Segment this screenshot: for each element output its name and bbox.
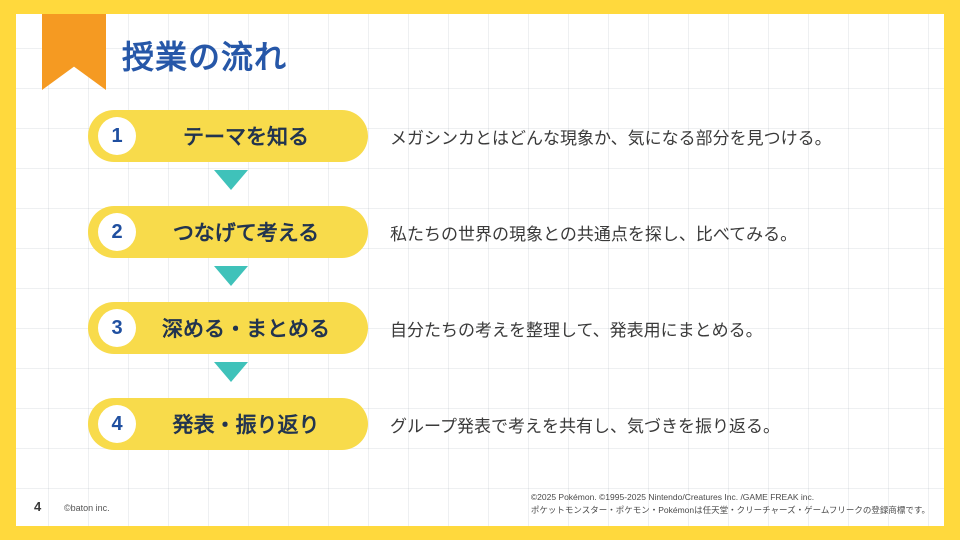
step-label-2: つなげて考える: [136, 217, 368, 247]
copyright-line-2: ポケットモンスター・ポケモン・Pokémonは任天堂・クリーチャーズ・ゲームフリ…: [531, 504, 930, 516]
ribbon-bookmark-icon: [42, 14, 106, 90]
page-title: 授業の流れ: [122, 32, 287, 78]
step-row: 2 つなげて考える 私たちの世界の現象との共通点を探し、比べてみる。: [16, 206, 944, 258]
step-pill-3[interactable]: 3 深める・まとめる: [88, 302, 368, 354]
step-row: 4 発表・振り返り グループ発表で考えを共有し、気づきを振り返る。: [16, 398, 944, 450]
step-label-1: テーマを知る: [136, 121, 368, 151]
step-row: 1 テーマを知る メガシンカとはどんな現象か、気になる部分を見つける。: [16, 110, 944, 162]
copyright-line-1: ©2025 Pokémon. ©1995-2025 Nintendo/Creat…: [531, 491, 930, 503]
step-label-3: 深める・まとめる: [136, 313, 368, 343]
chevron-down-icon: [214, 266, 248, 286]
footer-brand: ©baton inc.: [64, 503, 110, 513]
step-label-4: 発表・振り返り: [136, 409, 368, 439]
step-description-1: メガシンカとはどんな現象か、気になる部分を見つける。: [390, 124, 832, 149]
copyright-notice: ©2025 Pokémon. ©1995-2025 Nintendo/Creat…: [531, 491, 930, 516]
step-row: 3 深める・まとめる 自分たちの考えを整理して、発表用にまとめる。: [16, 302, 944, 354]
step-pill-4[interactable]: 4 発表・振り返り: [88, 398, 368, 450]
step-pill-2[interactable]: 2 つなげて考える: [88, 206, 368, 258]
slide: 授業の流れ 1 テーマを知る メガシンカとはどんな現象か、気になる部分を見つける…: [0, 0, 960, 540]
step-connector-1: [16, 162, 944, 206]
page-number: 4: [34, 499, 41, 514]
step-pill-1[interactable]: 1 テーマを知る: [88, 110, 368, 162]
step-description-4: グループ発表で考えを共有し、気づきを振り返る。: [390, 412, 780, 437]
step-number-4: 4: [98, 405, 136, 443]
step-number-3: 3: [98, 309, 136, 347]
step-number-2: 2: [98, 213, 136, 251]
step-connector-2: [16, 258, 944, 302]
step-connector-3: [16, 354, 944, 398]
step-description-3: 自分たちの考えを整理して、発表用にまとめる。: [390, 316, 763, 341]
chevron-down-icon: [214, 170, 248, 190]
step-flow-list: 1 テーマを知る メガシンカとはどんな現象か、気になる部分を見つける。 2 つな…: [16, 110, 944, 450]
chevron-down-icon: [214, 362, 248, 382]
slide-canvas: 授業の流れ 1 テーマを知る メガシンカとはどんな現象か、気になる部分を見つける…: [16, 14, 944, 526]
step-description-2: 私たちの世界の現象との共通点を探し、比べてみる。: [390, 220, 797, 245]
step-number-1: 1: [98, 117, 136, 155]
